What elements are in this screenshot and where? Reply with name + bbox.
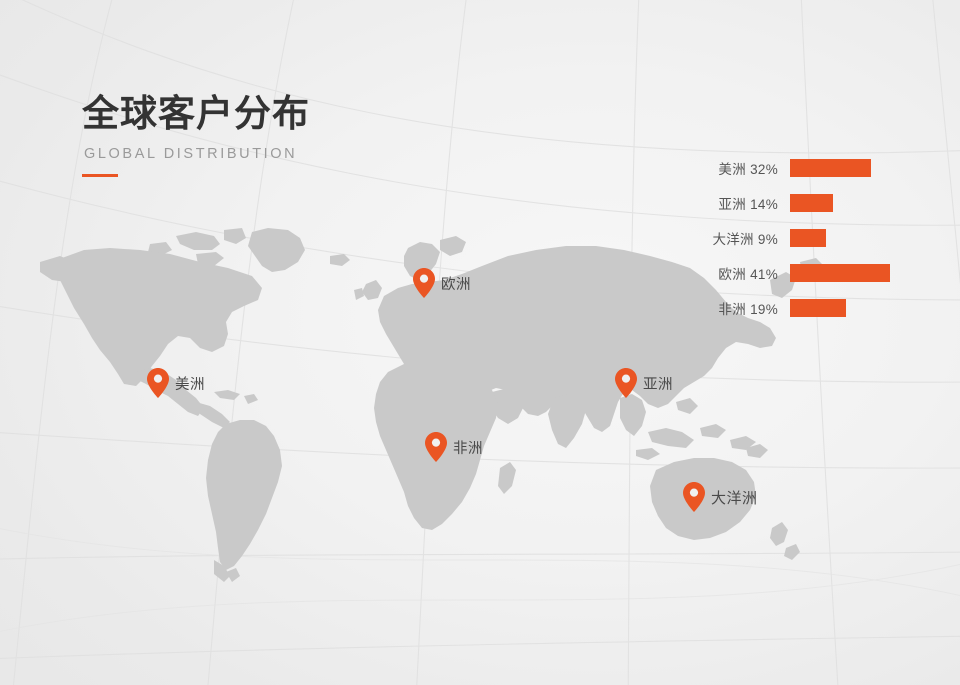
map-marker-label-europe: 欧洲 <box>441 273 471 294</box>
bar-fill-oceania <box>790 229 826 247</box>
bar-track-americas <box>790 158 930 178</box>
distribution-bar-chart: 美洲 32% 亚洲 14% 大洋洲 9% 欧洲 41% 非洲 19% <box>700 152 930 332</box>
heading-block: 全球客户分布 GLOBAL DISTRIBUTION <box>82 92 310 177</box>
bar-fill-africa <box>790 299 846 317</box>
location-pin-icon <box>425 432 447 462</box>
bar-row-asia[interactable]: 亚洲 14% <box>700 193 930 213</box>
map-marker-asia[interactable]: 亚洲 <box>615 368 673 398</box>
bar-label-oceania: 大洋洲 9% <box>700 228 790 248</box>
bar-label-americas: 美洲 32% <box>700 158 790 178</box>
bar-label-africa: 非洲 19% <box>700 298 790 318</box>
map-marker-africa[interactable]: 非洲 <box>425 432 483 462</box>
location-pin-icon <box>147 368 169 398</box>
slide-canvas: 全球客户分布 GLOBAL DISTRIBUTION 美洲 欧洲 亚洲 非洲 <box>0 0 960 685</box>
map-marker-label-americas: 美洲 <box>175 373 205 394</box>
accent-underline <box>82 174 118 177</box>
location-pin-icon <box>683 482 705 512</box>
bar-fill-americas <box>790 159 871 177</box>
map-marker-americas[interactable]: 美洲 <box>147 368 205 398</box>
bar-track-oceania <box>790 228 930 248</box>
bar-row-americas[interactable]: 美洲 32% <box>700 158 930 178</box>
map-marker-label-africa: 非洲 <box>453 437 483 458</box>
map-marker-europe[interactable]: 欧洲 <box>413 268 471 298</box>
bar-row-africa[interactable]: 非洲 19% <box>700 298 930 318</box>
page-subtitle: GLOBAL DISTRIBUTION <box>84 146 310 162</box>
bar-row-oceania[interactable]: 大洋洲 9% <box>700 228 930 248</box>
page-title: 全球客户分布 <box>82 92 310 136</box>
bar-fill-europe <box>790 264 890 282</box>
bar-track-europe <box>790 263 930 283</box>
bar-label-europe: 欧洲 41% <box>700 263 790 283</box>
location-pin-icon <box>413 268 435 298</box>
bar-fill-asia <box>790 194 833 212</box>
map-marker-label-oceania: 大洋洲 <box>711 487 758 508</box>
bar-track-africa <box>790 298 930 318</box>
location-pin-icon <box>615 368 637 398</box>
bar-track-asia <box>790 193 930 213</box>
bar-label-asia: 亚洲 14% <box>700 193 790 213</box>
bar-row-europe[interactable]: 欧洲 41% <box>700 263 930 283</box>
map-marker-oceania[interactable]: 大洋洲 <box>683 482 758 512</box>
map-marker-label-asia: 亚洲 <box>643 373 673 394</box>
